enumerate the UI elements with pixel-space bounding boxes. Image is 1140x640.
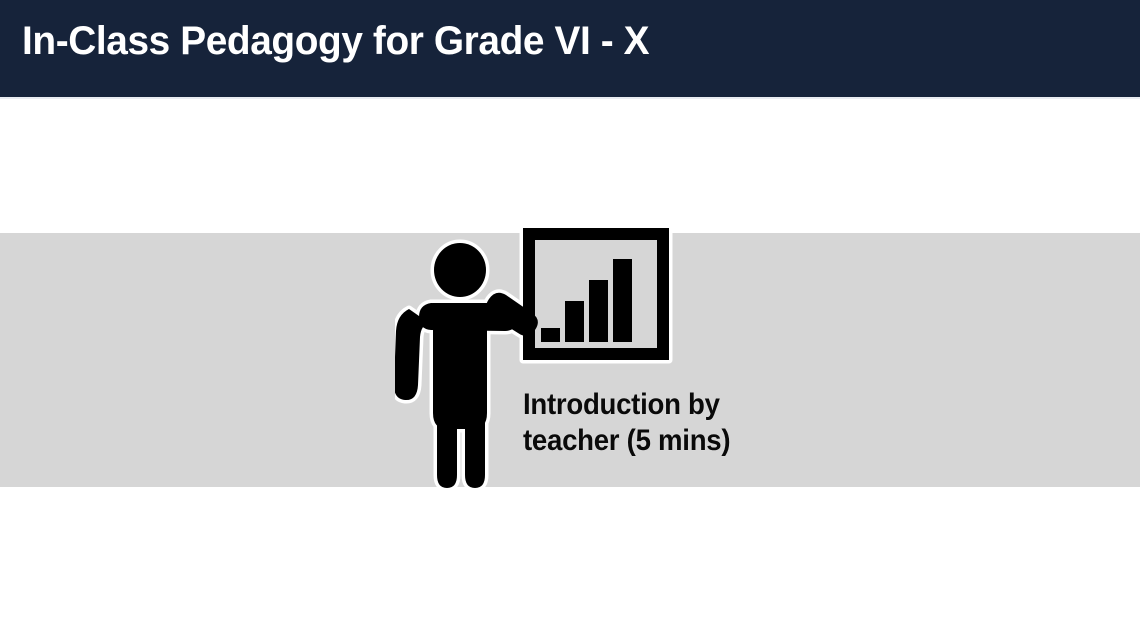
caption-block: Introduction by teacher (5 mins): [523, 387, 793, 459]
page-title: In-Class Pedagogy for Grade VI - X: [22, 16, 649, 66]
caption-line-1: Introduction by: [523, 387, 771, 423]
presentation-board: [523, 228, 669, 360]
illustration-group: Introduction by teacher (5 mins): [395, 219, 795, 494]
right-leg: [465, 391, 485, 488]
bar-4: [613, 259, 632, 342]
bar-2: [565, 301, 584, 342]
head-ellipse: [434, 243, 486, 297]
left-leg: [437, 391, 457, 488]
bar-3: [589, 280, 608, 342]
header-bar: In-Class Pedagogy for Grade VI - X: [0, 0, 1140, 99]
slide-body: Introduction by teacher (5 mins): [0, 99, 1140, 640]
caption-line-2: teacher (5 mins): [523, 423, 771, 459]
bar-1: [541, 328, 560, 342]
